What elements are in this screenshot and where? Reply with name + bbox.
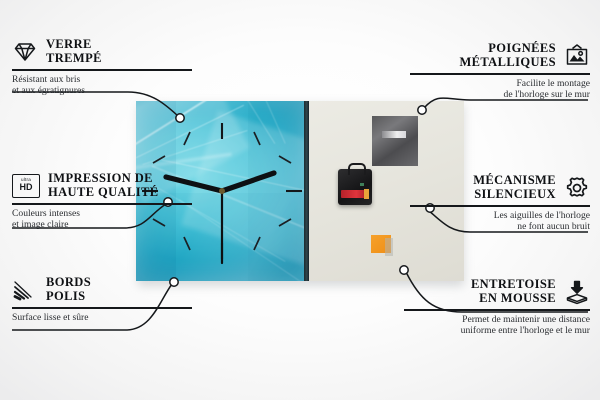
callout-title: IMPRESSION DE (48, 172, 158, 186)
callout-rule (410, 205, 590, 207)
callout-rule (12, 69, 192, 71)
mechanism-loop (348, 163, 366, 175)
callout-subtitle: Facilite le montage (410, 78, 590, 90)
polished-edges-icon (12, 277, 38, 303)
callout-verre-trempe: VERRE TREMPÉ Résistant aux bris et aux é… (12, 38, 192, 97)
diamond-icon (12, 39, 38, 65)
callout-subtitle: Les aiguilles de l'horloge (410, 210, 590, 222)
callout-subtitle-2: de l'horloge sur le mur (410, 89, 590, 101)
callout-subtitle-2: ne font aucun bruit (410, 221, 590, 233)
foam-spacer (371, 235, 391, 253)
infographic-canvas: VERRE TREMPÉ Résistant aux bris et aux é… (0, 0, 600, 400)
hd-badge-main: HD (20, 183, 33, 193)
callout-subtitle: Permet de maintenir une distance (404, 314, 590, 326)
callout-title-2: HAUTE QUALITÉ (48, 186, 158, 200)
metal-hanger-plate (372, 116, 418, 166)
foam-spacer-shadow (385, 238, 393, 256)
picture-frame-hanger-icon (564, 43, 590, 69)
callout-subtitle-2: et image claire (12, 219, 192, 231)
callout-subtitle: Surface lisse et sûre (12, 312, 192, 324)
callout-bords-polis: BORDS POLIS Surface lisse et sûre (12, 276, 192, 323)
callout-title-2: EN MOUSSE (471, 292, 556, 306)
callout-mecanisme: MÉCANISME SILENCIEUX Les aiguilles de l'… (410, 174, 590, 233)
callout-title: MÉCANISME (473, 174, 556, 188)
callout-rule (404, 309, 590, 311)
clock-mechanism (338, 169, 372, 205)
callout-title-2: SILENCIEUX (473, 188, 556, 202)
callout-title-2: TREMPÉ (46, 52, 102, 66)
callout-title-2: POLIS (46, 290, 91, 304)
callout-poignees: POIGNÉES MÉTALLIQUES Facilite le montage… (410, 42, 590, 101)
callout-subtitle: Résistant aux bris (12, 74, 192, 86)
callout-title: POIGNÉES (459, 42, 556, 56)
mechanism-indicator (360, 183, 364, 186)
hanger-slot (382, 131, 406, 138)
callout-subtitle-2: uniforme entre l'horloge et le mur (404, 325, 590, 337)
ultra-hd-badge-icon: ultra HD (12, 174, 40, 198)
callout-subtitle: Couleurs intenses (12, 208, 192, 220)
callout-rule (12, 203, 192, 205)
callout-entretoise: ENTRETOISE EN MOUSSE Permet de maintenir… (404, 278, 590, 337)
callout-title: VERRE (46, 38, 102, 52)
battery (341, 190, 369, 198)
callout-subtitle-2: et aux égratignures (12, 85, 192, 97)
callout-title: ENTRETOISE (471, 278, 556, 292)
battery-tip (364, 189, 369, 199)
press-down-pad-icon (564, 279, 590, 305)
callout-rule (12, 307, 192, 309)
callout-title-2: MÉTALLIQUES (459, 56, 556, 70)
gear-icon (564, 175, 590, 201)
callout-rule (410, 73, 590, 75)
callout-impression: ultra HD IMPRESSION DE HAUTE QUALITÉ Cou… (12, 172, 192, 231)
callout-title: BORDS (46, 276, 91, 290)
